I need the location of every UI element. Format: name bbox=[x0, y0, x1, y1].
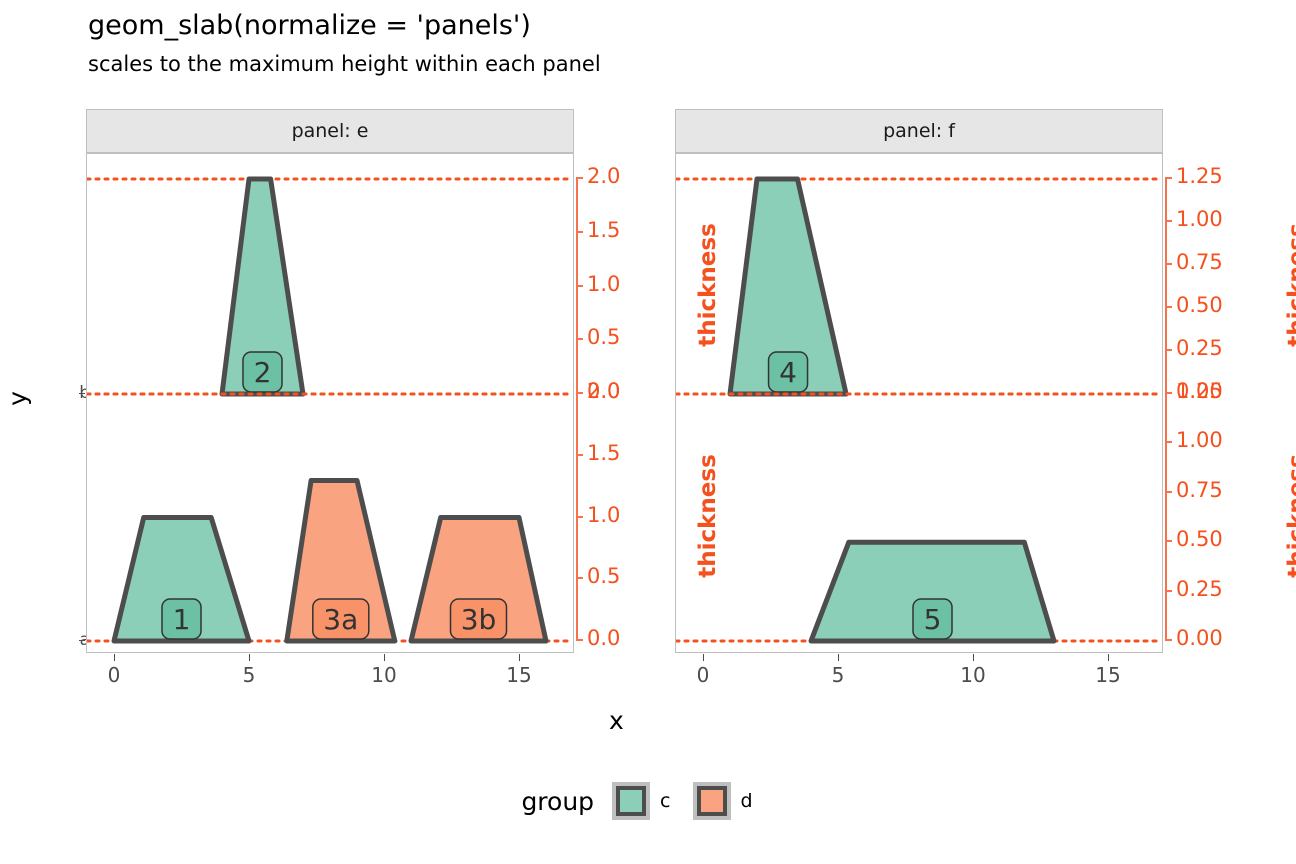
slab-label-3b: 3b bbox=[461, 603, 497, 636]
x-axis-title: x bbox=[609, 706, 624, 735]
thickness-tick-label: 0.00 bbox=[1176, 626, 1223, 650]
thickness-tick-mark bbox=[1165, 392, 1172, 394]
y-tick-mark-a bbox=[79, 640, 85, 641]
facet-panel-e-graphic: 213a3b bbox=[87, 154, 573, 652]
facet-strip-label: panel: e bbox=[292, 120, 369, 142]
legend-label-d: d bbox=[741, 790, 753, 812]
x-tick-mark bbox=[384, 654, 385, 661]
y-axis-title: y bbox=[3, 391, 32, 406]
x-tick-mark bbox=[114, 654, 115, 661]
legend-item-d[interactable]: d bbox=[693, 782, 753, 820]
thickness-tick-mark bbox=[1165, 540, 1172, 542]
thickness-tick-label: 1.5 bbox=[587, 441, 620, 465]
x-tick-label: 5 bbox=[808, 663, 868, 687]
thickness-tick-mark bbox=[576, 177, 583, 179]
thickness-tick-label: 1.25 bbox=[1176, 164, 1223, 188]
x-tick-mark bbox=[973, 654, 974, 661]
plot-area: geom_slab(normalize = 'panels') scales t… bbox=[0, 0, 1296, 864]
thickness-tick-mark bbox=[576, 392, 583, 394]
x-tick-label: 10 bbox=[354, 663, 414, 687]
thickness-tick-mark bbox=[1165, 639, 1172, 641]
thickness-tick-mark bbox=[1165, 349, 1172, 351]
x-tick-mark bbox=[249, 654, 250, 661]
legend: group c d bbox=[0, 782, 1296, 820]
thickness-axis-title: thickness bbox=[1284, 454, 1296, 578]
x-tick-label: 15 bbox=[489, 663, 549, 687]
thickness-tick-label: 1.00 bbox=[1176, 428, 1223, 452]
slab-label-2: 2 bbox=[254, 356, 272, 389]
facet-strip-e: panel: e bbox=[86, 109, 574, 153]
thickness-tick-mark bbox=[1165, 220, 1172, 222]
facet-panel-f: 45 bbox=[675, 153, 1163, 653]
x-tick-mark bbox=[703, 654, 704, 661]
legend-swatch-d bbox=[697, 786, 727, 816]
thickness-tick-label: 1.0 bbox=[587, 272, 620, 296]
thickness-tick-mark bbox=[1165, 491, 1172, 493]
slab-label-5: 5 bbox=[924, 603, 942, 636]
thickness-tick-mark bbox=[1165, 177, 1172, 179]
page-title: geom_slab(normalize = 'panels') bbox=[88, 10, 531, 41]
thickness-tick-mark bbox=[576, 639, 583, 641]
x-tick-label: 15 bbox=[1078, 663, 1138, 687]
thickness-tick-mark bbox=[576, 516, 583, 518]
thickness-tick-label: 0.75 bbox=[1176, 478, 1223, 502]
thickness-tick-label: 1.25 bbox=[1176, 379, 1223, 403]
thickness-tick-mark bbox=[1165, 590, 1172, 592]
thickness-tick-label: 0.5 bbox=[587, 564, 620, 588]
x-tick-label: 10 bbox=[943, 663, 1003, 687]
thickness-tick-label: 1.0 bbox=[587, 503, 620, 527]
thickness-axis-line bbox=[1165, 393, 1167, 640]
thickness-tick-mark bbox=[576, 285, 583, 287]
x-tick-label: 0 bbox=[673, 663, 733, 687]
thickness-axis-line bbox=[1165, 178, 1167, 393]
legend-label-c: c bbox=[660, 790, 670, 812]
thickness-tick-mark bbox=[576, 454, 583, 456]
legend-title: group bbox=[521, 787, 594, 816]
thickness-tick-mark bbox=[1165, 441, 1172, 443]
thickness-axis-title: thickness bbox=[1284, 223, 1296, 347]
facet-panel-f-graphic: 45 bbox=[676, 154, 1162, 652]
facet-panel-e: 213a3b bbox=[86, 153, 574, 653]
thickness-tick-mark bbox=[1165, 263, 1172, 265]
facet-strip-f: panel: f bbox=[675, 109, 1163, 153]
slab-label-3a: 3a bbox=[323, 603, 358, 636]
thickness-tick-label: 0.50 bbox=[1176, 293, 1223, 317]
x-tick-label: 5 bbox=[219, 663, 279, 687]
thickness-tick-label: 0.25 bbox=[1176, 336, 1223, 360]
thickness-tick-label: 0.50 bbox=[1176, 527, 1223, 551]
y-tick-mark-b bbox=[79, 393, 85, 394]
thickness-tick-mark bbox=[576, 577, 583, 579]
legend-item-c[interactable]: c bbox=[612, 782, 670, 820]
thickness-axis-title: thickness bbox=[695, 223, 721, 347]
thickness-tick-label: 0.75 bbox=[1176, 250, 1223, 274]
x-tick-label: 0 bbox=[84, 663, 144, 687]
thickness-tick-label: 0.5 bbox=[587, 325, 620, 349]
legend-key bbox=[693, 782, 731, 820]
thickness-tick-mark bbox=[576, 231, 583, 233]
thickness-tick-label: 0.0 bbox=[587, 626, 620, 650]
thickness-tick-label: 2.0 bbox=[587, 164, 620, 188]
thickness-tick-label: 1.00 bbox=[1176, 207, 1223, 231]
legend-swatch-c bbox=[616, 786, 646, 816]
x-tick-mark bbox=[1108, 654, 1109, 661]
thickness-tick-label: 2.0 bbox=[587, 379, 620, 403]
thickness-axis-title: thickness bbox=[695, 454, 721, 578]
page-subtitle: scales to the maximum height within each… bbox=[88, 52, 601, 76]
thickness-tick-label: 0.25 bbox=[1176, 577, 1223, 601]
facet-strip-label: panel: f bbox=[883, 120, 955, 142]
thickness-tick-label: 1.5 bbox=[587, 218, 620, 242]
thickness-tick-mark bbox=[1165, 306, 1172, 308]
x-tick-mark bbox=[838, 654, 839, 661]
slab-label-1: 1 bbox=[173, 603, 191, 636]
thickness-tick-mark bbox=[576, 338, 583, 340]
x-tick-mark bbox=[519, 654, 520, 661]
slab-label-4: 4 bbox=[779, 356, 797, 389]
legend-key bbox=[612, 782, 650, 820]
